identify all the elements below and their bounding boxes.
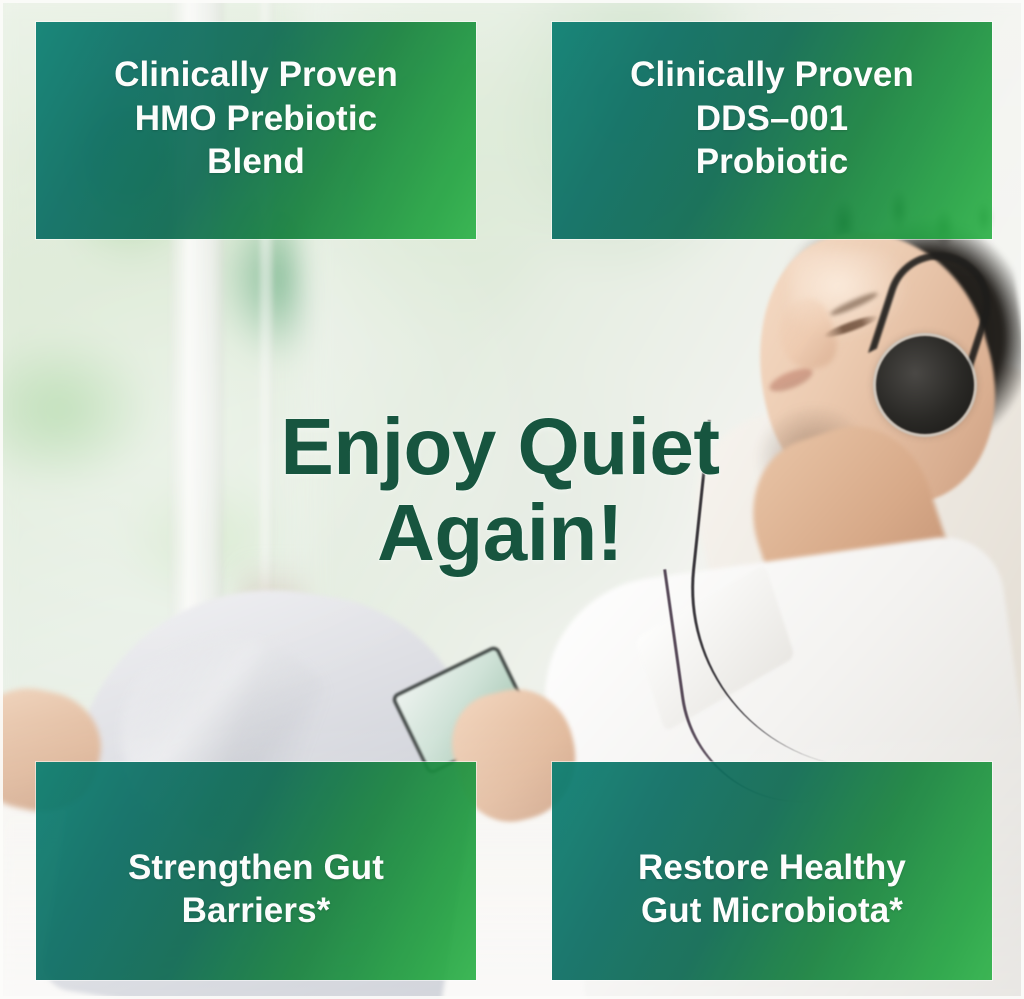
benefit-panel-hmo-prebiotic-blend-label: Clinically Proven HMO Prebiotic Blend <box>100 53 412 183</box>
benefit-panel-strengthen-gut-barriers: Strengthen Gut Barriers* <box>36 762 476 980</box>
promo-poster: Clinically Proven HMO Prebiotic Blend Cl… <box>0 0 1024 999</box>
benefit-panel-strengthen-gut-barriers-label: Strengthen Gut Barriers* <box>114 846 398 933</box>
benefit-panel-dds-001-probiotic-label: Clinically Proven DDS–001 Probiotic <box>616 53 928 183</box>
benefit-panel-restore-healthy-gut-microbiota-label: Restore Healthy Gut Microbiota* <box>624 846 920 933</box>
headphone-earcup <box>876 336 974 434</box>
benefit-panel-restore-healthy-gut-microbiota: Restore Healthy Gut Microbiota* <box>552 762 992 980</box>
benefit-panel-hmo-prebiotic-blend: Clinically Proven HMO Prebiotic Blend <box>36 22 476 239</box>
benefit-panel-dds-001-probiotic: Clinically Proven DDS–001 Probiotic <box>552 22 992 239</box>
